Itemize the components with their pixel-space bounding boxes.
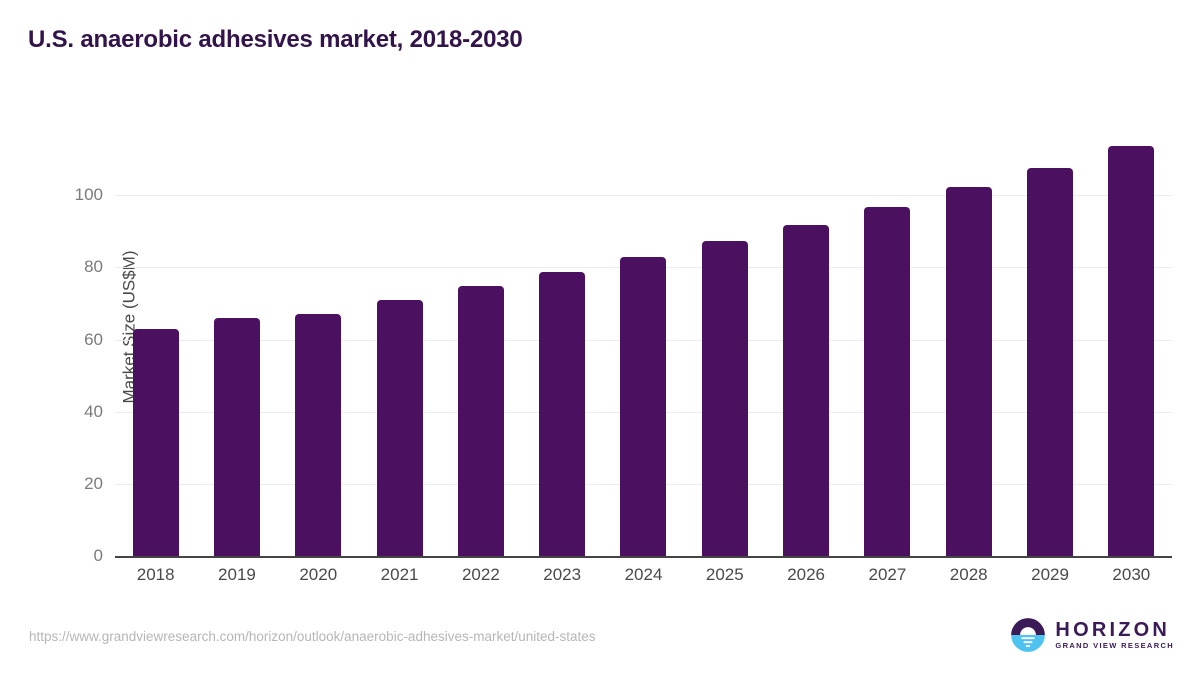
horizon-logo: HORIZON GRAND VIEW RESEARCH <box>1010 617 1174 653</box>
bar[interactable] <box>1027 168 1073 556</box>
logo-wordmark: HORIZON GRAND VIEW RESEARCH <box>1055 620 1174 650</box>
bar[interactable] <box>620 257 666 556</box>
x-tick-label: 2020 <box>278 565 359 585</box>
bar[interactable] <box>1108 146 1154 556</box>
page-title: U.S. anaerobic adhesives market, 2018-20… <box>28 26 523 54</box>
bar[interactable] <box>864 207 910 556</box>
x-tick-label: 2028 <box>928 565 1009 585</box>
x-tick-label: 2024 <box>603 565 684 585</box>
y-tick-label: 0 <box>43 546 103 566</box>
y-tick-label: 60 <box>43 330 103 350</box>
x-tick-label: 2023 <box>522 565 603 585</box>
x-tick-label: 2029 <box>1009 565 1090 585</box>
bar[interactable] <box>295 314 341 556</box>
x-tick-label: 2025 <box>684 565 765 585</box>
y-tick-label: 20 <box>43 474 103 494</box>
logo-word: HORIZON <box>1055 620 1174 640</box>
bar[interactable] <box>458 286 504 556</box>
bar[interactable] <box>133 329 179 556</box>
x-tick-label: 2018 <box>115 565 196 585</box>
bar[interactable] <box>377 300 423 556</box>
y-tick-label: 80 <box>43 257 103 277</box>
x-tick-label: 2027 <box>847 565 928 585</box>
chart-plot-area: Market Size (US$M) 020406080100 20182019… <box>115 95 1172 558</box>
bar[interactable] <box>702 241 748 556</box>
bar[interactable] <box>783 225 829 556</box>
bar[interactable] <box>539 272 585 556</box>
x-axis-line <box>115 556 1172 558</box>
horizon-sun-icon <box>1010 617 1046 653</box>
y-tick-label: 40 <box>43 402 103 422</box>
x-tick-label: 2021 <box>359 565 440 585</box>
bar-series <box>115 95 1172 558</box>
x-tick-label: 2022 <box>440 565 521 585</box>
source-url[interactable]: https://www.grandviewresearch.com/horizo… <box>29 629 596 644</box>
logo-tagline: GRAND VIEW RESEARCH <box>1055 642 1174 650</box>
bar[interactable] <box>946 187 992 556</box>
x-tick-label: 2026 <box>765 565 846 585</box>
chart-page: U.S. anaerobic adhesives market, 2018-20… <box>0 0 1200 675</box>
x-tick-label: 2030 <box>1091 565 1172 585</box>
bar[interactable] <box>214 318 260 556</box>
y-tick-label: 100 <box>43 185 103 205</box>
x-tick-label: 2019 <box>196 565 277 585</box>
